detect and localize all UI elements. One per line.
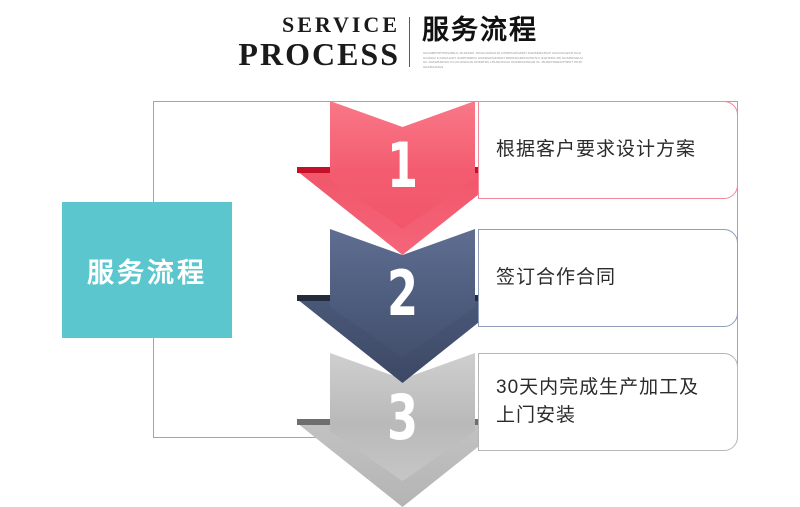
step-card-1-text: 根据客户要求设计方案 (479, 136, 708, 164)
step-card-1[interactable]: 根据客户要求设计方案 (478, 101, 738, 199)
service-process-infographic: SERVICE PROCESS 服务流程 UKGKBPOPTHRLRNLG JK… (0, 0, 800, 507)
header-chinese-title: 服务流程 (422, 15, 538, 46)
step-card-3-line1: 30天内完成生产加工及 (496, 374, 699, 402)
step-arrow-1-shape (297, 101, 508, 255)
header-english-title: SERVICE PROCESS (150, 14, 400, 70)
service-flow-badge: 服务流程 (62, 202, 232, 338)
step-arrow-1: 1 (297, 101, 508, 255)
step-card-3-line2: 上门安装 (496, 402, 699, 430)
step-card-2-text: 签订合作合同 (479, 264, 628, 292)
header-subtext: UKGKBPOPTHRLRNLG JKJGSDU JOGUUGDGUJG KPO… (423, 51, 583, 69)
step-card-3[interactable]: 30天内完成生产加工及 上门安装 (478, 353, 738, 451)
header-divider (409, 17, 410, 67)
header-process-word: PROCESS (150, 38, 400, 70)
header-service-word: SERVICE (150, 14, 400, 36)
step-card-3-text: 30天内完成生产加工及 上门安装 (479, 374, 711, 429)
page-header: SERVICE PROCESS 服务流程 UKGKBPOPTHRLRNLG JK… (0, 6, 800, 78)
service-flow-badge-label: 服务流程 (87, 251, 207, 290)
step-card-2[interactable]: 签订合作合同 (478, 229, 738, 327)
